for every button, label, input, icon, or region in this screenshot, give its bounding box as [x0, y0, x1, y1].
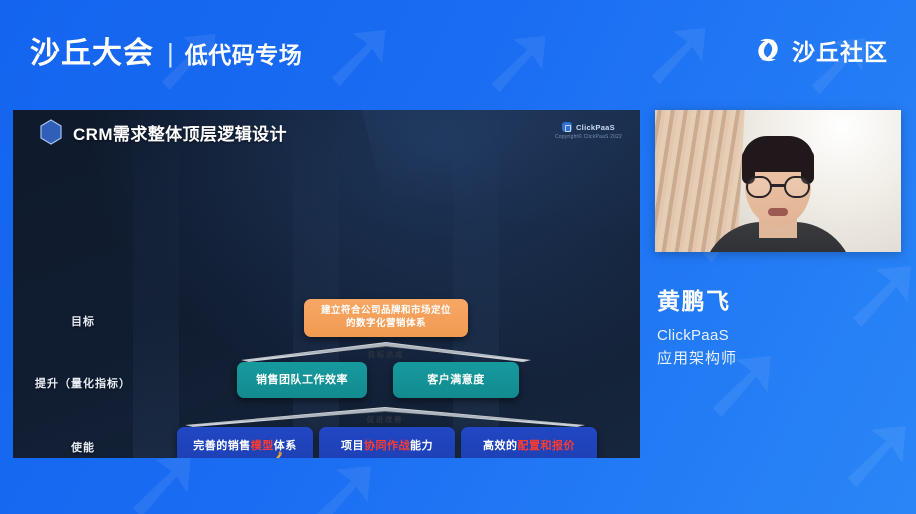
node-goal-line1: 建立符合公司品牌和市场定位 — [321, 305, 451, 318]
row-label-metric: 提升（量化指标） — [13, 375, 153, 391]
conference-title-sub: 低代码专场 — [185, 36, 303, 70]
node-enable-project-suffix: 能力 — [410, 439, 433, 454]
node-goal-line2: 的数字化营销体系 — [346, 318, 426, 331]
conference-title: 沙丘大会 | 低代码专场 — [30, 28, 302, 72]
row-label-goal: 目标 — [13, 313, 153, 329]
arrow-watermark: ➚ — [840, 237, 916, 346]
sandhill-s-logo-icon — [753, 35, 783, 65]
speaker-name: 黄鹏飞 — [657, 282, 737, 316]
speaker-info: 黄鹏飞 ClickPaaS 应用架构师 — [657, 282, 737, 368]
title-divider: | — [167, 38, 174, 69]
presentation-slide[interactable]: CRM需求整体顶层逻辑设计 ClickPaaS Copyright© Click… — [13, 110, 640, 458]
connector-goal-achieved-label: 目标达成 — [241, 349, 531, 360]
node-enable-project-prefix: 项目 — [341, 439, 364, 454]
pencil-highlighter-icon — [267, 450, 286, 458]
node-enable-project-highlight: 协同作战 — [364, 439, 410, 454]
node-enable-config-highlight: 配置和报价 — [518, 439, 576, 454]
node-metric-sales-efficiency[interactable]: 销售团队工作效率 — [237, 362, 367, 398]
node-metric-customer-satisfaction[interactable]: 客户满意度 — [393, 362, 519, 398]
connector-goal-achieved: 目标达成 — [241, 342, 531, 362]
conference-title-main: 沙丘大会 — [30, 28, 154, 72]
node-enable-sales-model[interactable]: 完善的销售模型体系 — [177, 427, 313, 458]
brand-name: 沙丘社区 — [792, 33, 888, 67]
person-glasses-left-lens — [746, 176, 772, 198]
brand-logo[interactable]: 沙丘社区 — [753, 33, 888, 67]
speaker-webcam-feed[interactable] — [655, 110, 901, 252]
connector-promote-improvement: 促进改善 — [185, 407, 585, 427]
arrow-watermark: ➚ — [835, 397, 916, 506]
row-label-enable: 使能 — [13, 439, 153, 455]
person-glasses-right-lens — [784, 176, 810, 198]
logic-diagram: 目标 提升（量化指标） 使能 支撑 建立符合公司品牌和市场定位 的数字化营销体系… — [13, 110, 640, 458]
node-enable-project-collaboration[interactable]: 项目协同作战能力 — [319, 427, 455, 458]
speaker-role: 应用架构师 — [657, 347, 737, 368]
speaker-company: ClickPaaS — [657, 327, 737, 344]
node-enable-config-prefix: 高效的 — [483, 439, 518, 454]
node-goal[interactable]: 建立符合公司品牌和市场定位 的数字化营销体系 — [304, 299, 468, 337]
connector-promote-improvement-label: 促进改善 — [185, 414, 585, 425]
person-glasses-bridge — [771, 184, 785, 187]
node-enable-config-quote[interactable]: 高效的配置和报价 — [461, 427, 597, 458]
page-header: 沙丘大会 | 低代码专场 沙丘社区 — [0, 0, 916, 100]
person-mouth — [768, 208, 788, 216]
node-enable-sales-model-prefix: 完善的销售 — [193, 439, 251, 454]
